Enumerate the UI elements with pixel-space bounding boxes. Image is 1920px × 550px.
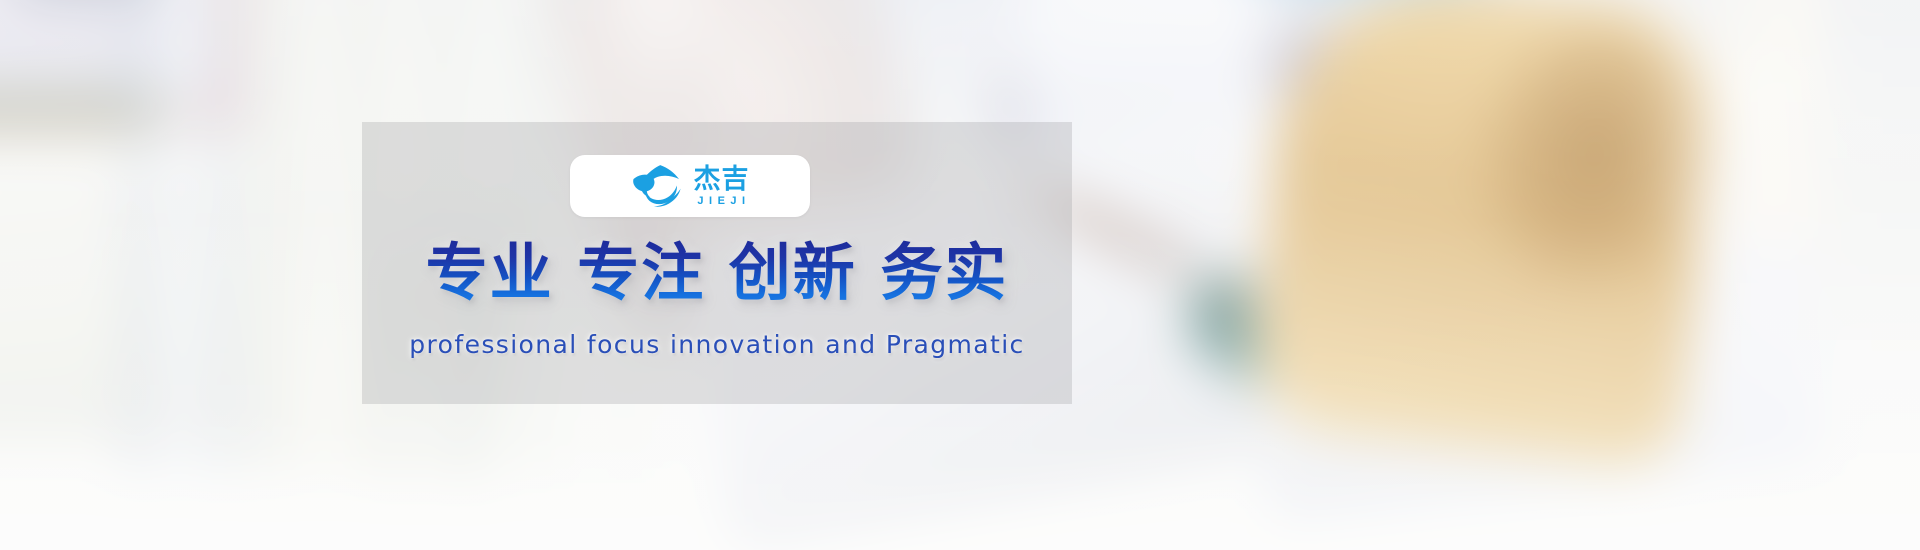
brand-logo[interactable]: 杰吉 JIEJI [570,155,810,217]
brand-wordmark: 杰吉 JIEJI [692,166,750,207]
brand-name-en: JIEJI [697,196,750,207]
brand-name-cn: 杰吉 [694,166,750,193]
background-knuckle-highlight [640,38,696,94]
hero-banner: 杰吉 JIEJI 专业 专注 创新 务实 professional focus … [0,0,1920,550]
slogan-chinese: 专业 专注 创新 务实 [362,238,1072,307]
background-hair-highlight [1640,0,1820,240]
slogan-english: professional focus innovation and Pragma… [362,330,1072,359]
wave-swoosh-icon [629,163,683,209]
